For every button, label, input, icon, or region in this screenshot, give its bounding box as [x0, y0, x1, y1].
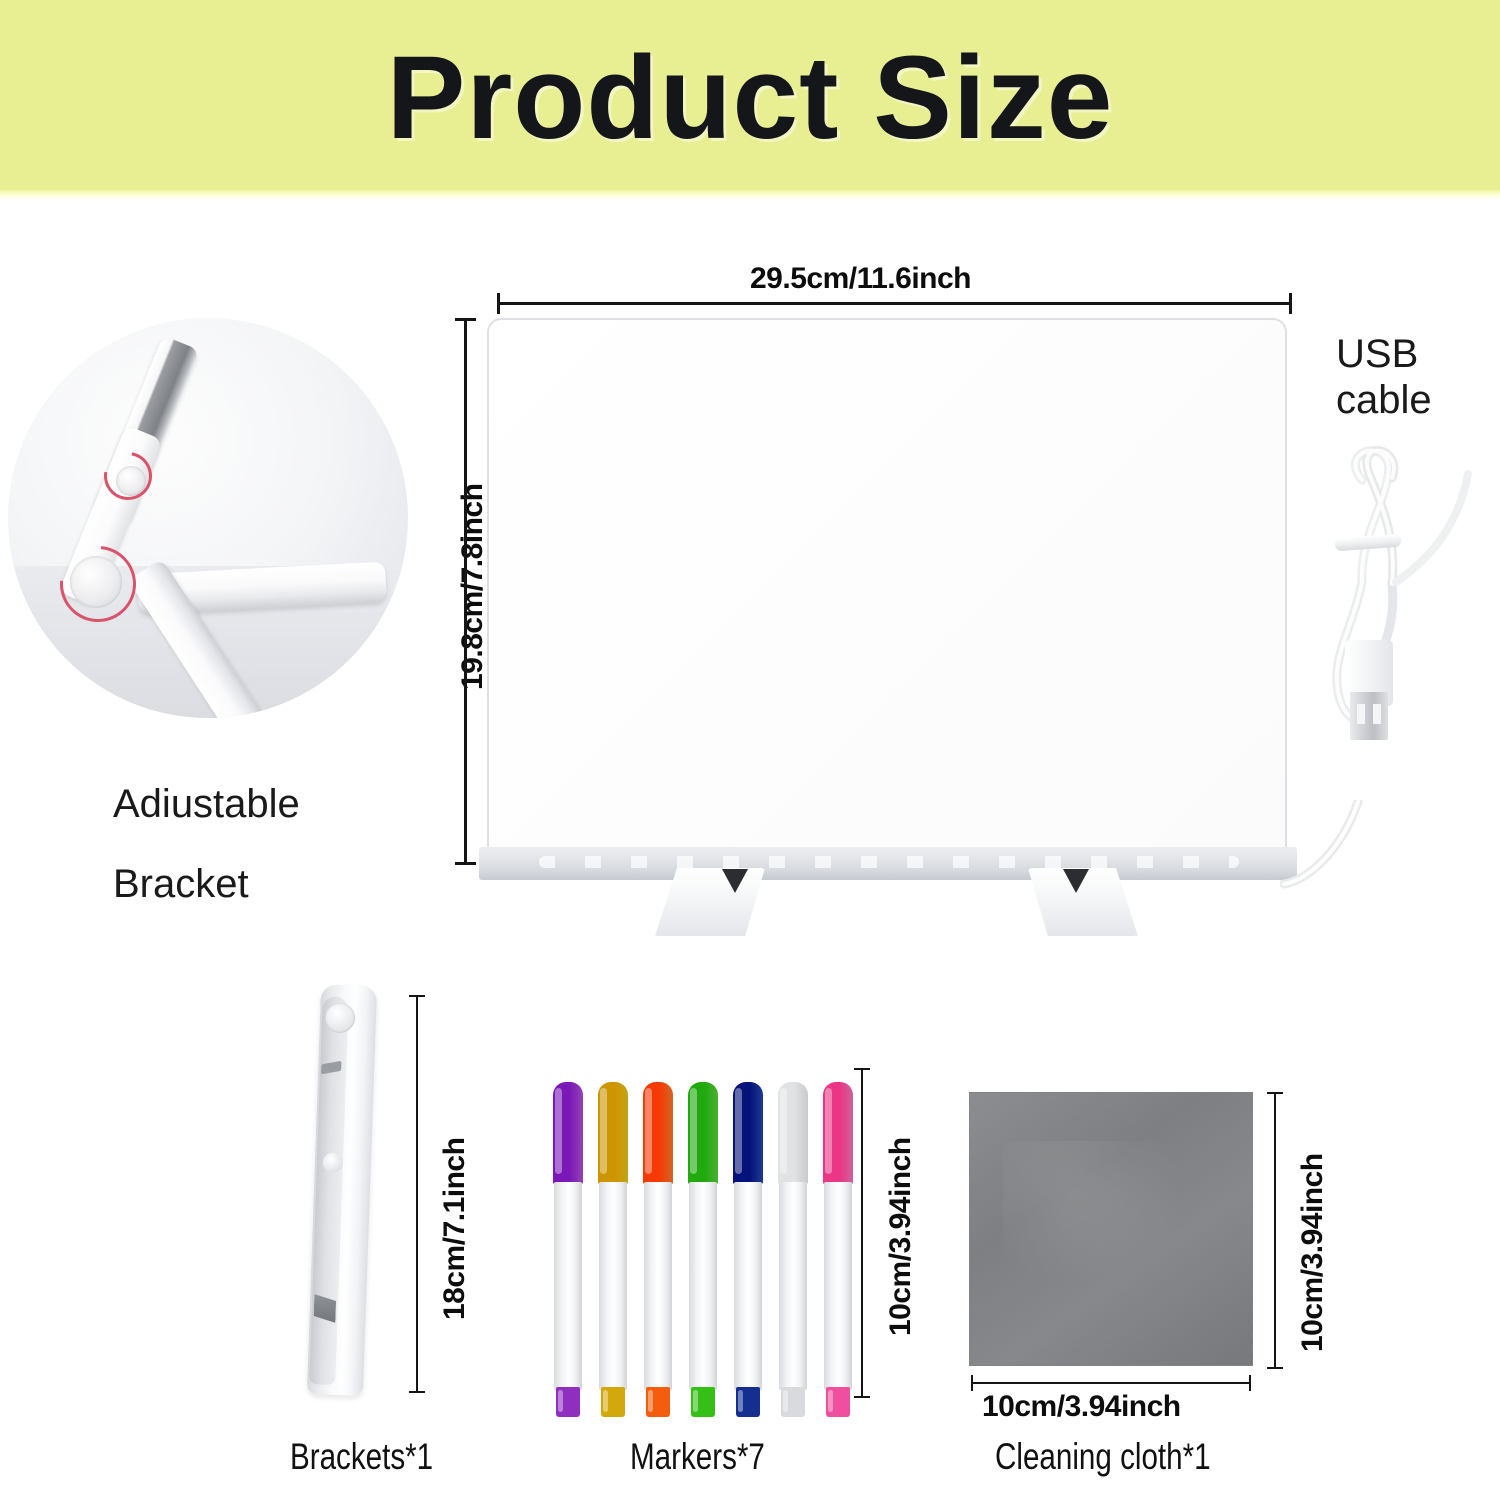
board-width-dimension-line: [497, 302, 1292, 305]
marker-yellow: [598, 1082, 628, 1422]
marker-end-plug-blue: [736, 1387, 760, 1417]
cloth-edge-right: [1252, 1092, 1260, 1366]
markers-part-caption: Markers*7: [630, 1436, 765, 1478]
marker-barrel-yellow: [599, 1182, 627, 1390]
usb-cable-tail: [1280, 800, 1430, 920]
banner-bottom-edge: [0, 190, 1500, 200]
marker-end-plug-yellow: [601, 1387, 625, 1417]
marker-barrel-white: [779, 1182, 807, 1390]
bracket-caption-line1: Adiustable: [113, 782, 300, 827]
marker-end-plug-green: [691, 1387, 715, 1417]
usb-label-line2: cable: [1336, 378, 1432, 423]
cloth-height-label: 10cm/3.94inch: [1296, 1153, 1330, 1352]
marker-green: [688, 1082, 718, 1422]
marker-purple: [553, 1082, 583, 1422]
board-height-dimension-line: [464, 318, 467, 865]
bracket-dimension-line: [416, 995, 418, 1393]
cleaning-cloth-graphic: [969, 1092, 1253, 1366]
acrylic-led-board: [487, 318, 1287, 863]
marker-white: [778, 1082, 808, 1422]
marker-end-plug-orange: [646, 1387, 670, 1417]
usb-label-line1: USB: [1336, 332, 1418, 377]
marker-cap-purple: [553, 1082, 583, 1184]
marker-pink: [823, 1082, 853, 1422]
adjustable-bracket-photo: [8, 318, 408, 718]
marker-cap-blue: [733, 1082, 763, 1184]
marker-orange: [643, 1082, 673, 1422]
marker-barrel-green: [689, 1182, 717, 1390]
bracket-caption-line2: Bracket: [113, 862, 249, 907]
cloth-height-dimension-line: [1274, 1092, 1276, 1369]
cloth-width-dimension-line: [971, 1382, 1251, 1384]
markers-dimension-label: 10cm/3.94inch: [884, 1137, 918, 1336]
marker-end-plug-pink: [826, 1387, 850, 1417]
marker-barrel-purple: [554, 1182, 582, 1390]
marker-cap-orange: [643, 1082, 673, 1184]
stand-foot-notch-left: [722, 869, 748, 893]
marker-blue: [733, 1082, 763, 1422]
board-height-label: 19.8cm/7.8inch: [456, 484, 490, 690]
marker-cap-white: [778, 1082, 808, 1184]
board-width-label: 29.5cm/11.6inch: [750, 262, 971, 296]
page-title: Product Size: [0, 38, 1500, 158]
bracket-part-caption: Brackets*1: [290, 1436, 433, 1478]
markers-dimension-line: [861, 1068, 863, 1398]
cloth-sheen: [1003, 1141, 1185, 1283]
usb-metal-contact: [1350, 692, 1388, 740]
led-base-strip: [479, 847, 1297, 880]
header-banner: Product Size: [0, 0, 1500, 197]
marker-barrel-blue: [734, 1182, 762, 1390]
cloth-edge-top: [969, 1085, 1253, 1093]
cloth-part-caption: Cleaning cloth*1: [995, 1436, 1211, 1478]
bracket-dimension-label: 18cm/7.1inch: [438, 1138, 472, 1320]
cloth-edge-bottom: [969, 1365, 1253, 1373]
marker-cap-pink: [823, 1082, 853, 1184]
marker-cap-green: [688, 1082, 718, 1184]
cloth-edge-left: [962, 1092, 970, 1366]
bracket-lower-foot: [8, 342, 51, 397]
marker-cap-yellow: [598, 1082, 628, 1184]
marker-barrel-orange: [644, 1182, 672, 1390]
marker-barrel-pink: [824, 1182, 852, 1390]
marker-end-plug-white: [781, 1387, 805, 1417]
stand-foot-notch-right: [1063, 869, 1089, 893]
marker-end-plug-purple: [556, 1387, 580, 1417]
bracket-right-foot: [8, 318, 71, 350]
led-light-dots: [539, 856, 1239, 868]
cloth-width-label: 10cm/3.94inch: [982, 1390, 1181, 1424]
folded-bracket-graphic: [299, 984, 385, 1396]
usb-cable-graphic: [1300, 432, 1490, 752]
product-size-infographic: Product Size Adiustable Bracket 29.5cm/1…: [0, 0, 1500, 1498]
